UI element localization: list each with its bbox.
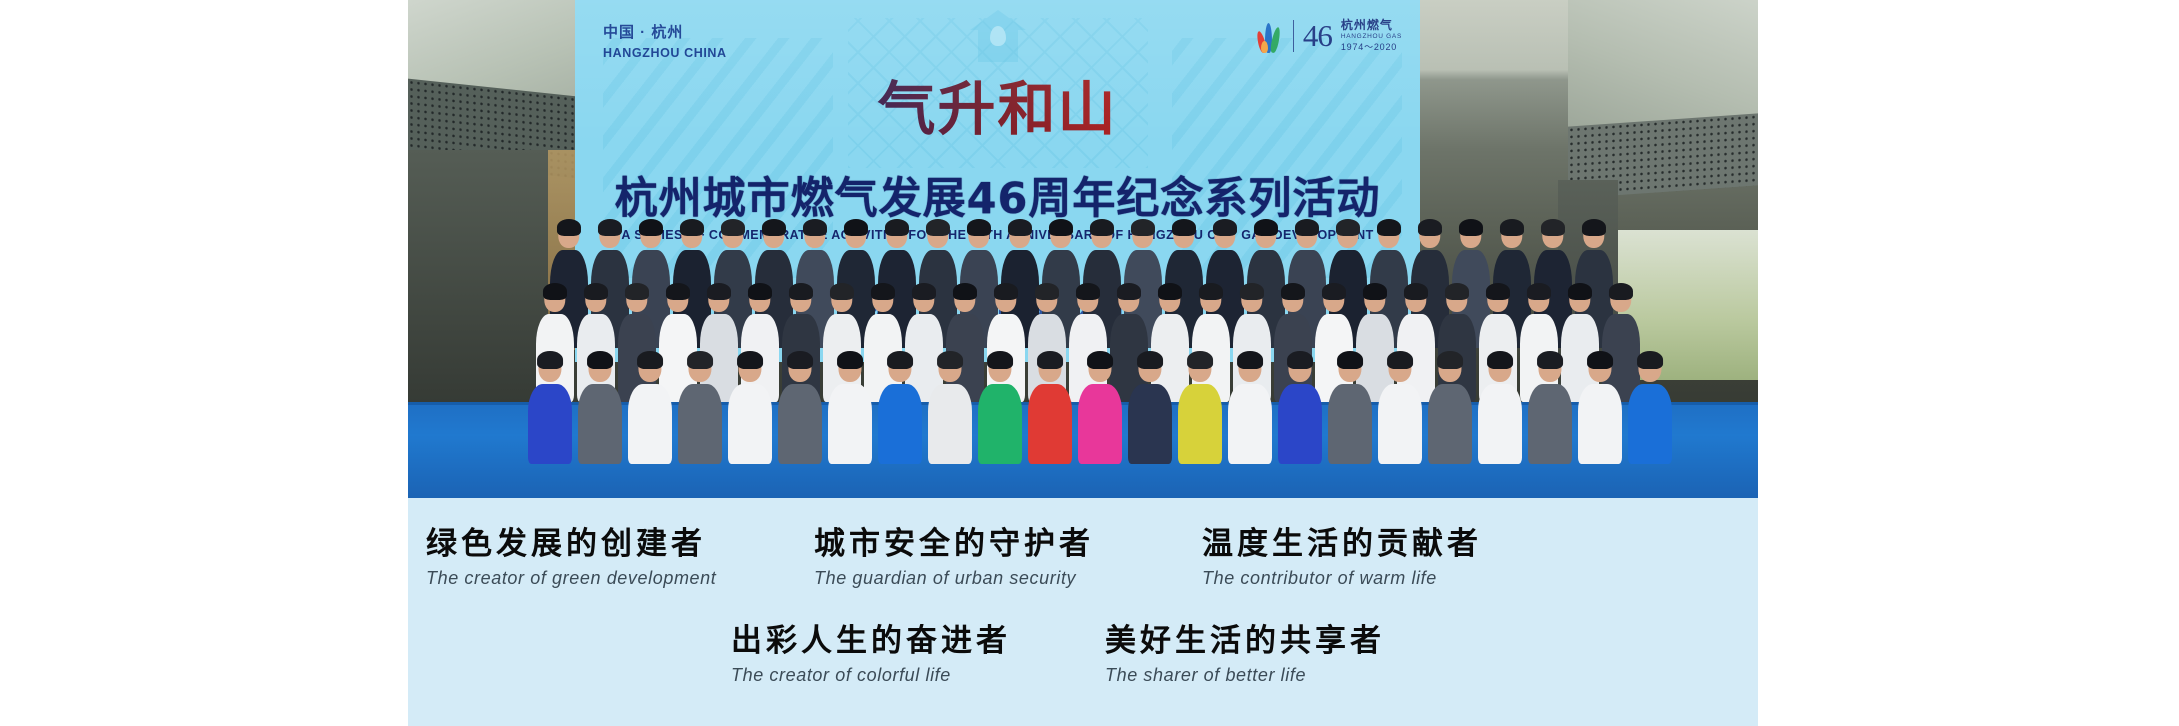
slogan-cn: 城市安全的守护者 (814, 518, 1154, 563)
person (1378, 354, 1422, 464)
slogan-cn: 出彩人生的奋进者 (731, 615, 1061, 660)
slogan-en: The contributor of warm life (1202, 568, 1542, 589)
slogan-en: The creator of green development (426, 568, 766, 589)
person (1178, 354, 1222, 464)
company-logo: 46 杭州燃气 HANGZHOU GAS 1974～2020 (1258, 18, 1402, 54)
person (578, 354, 622, 464)
slogan-en: The guardian of urban security (814, 568, 1154, 589)
house-icon (970, 10, 1026, 62)
slogan-item: 城市安全的守护者 The guardian of urban security (814, 518, 1154, 589)
person (928, 354, 972, 464)
person (1578, 354, 1622, 464)
person (1428, 354, 1472, 464)
slogan-row-2: 出彩人生的奋进者 The creator of colorful life 美好… (408, 615, 1758, 686)
slogan-panel: 绿色发展的创建者 The creator of green developmen… (408, 498, 1758, 726)
poster-page: 中国 · 杭州 HANGZHOU CHINA 46 杭州燃气 HANGZHOU … (0, 0, 2179, 726)
slogan-cn: 绿色发展的创建者 (426, 518, 766, 563)
slogan-cn: 温度生活的贡献者 (1202, 518, 1542, 563)
company-name-cn: 杭州燃气 (1341, 19, 1402, 33)
logo-wordmark: 杭州燃气 HANGZHOU GAS 1974～2020 (1341, 19, 1402, 53)
person (878, 354, 922, 464)
person (1478, 354, 1522, 464)
person (1278, 354, 1322, 464)
anniversary-number: 46 (1303, 18, 1332, 54)
slogan-item: 绿色发展的创建者 The creator of green developmen… (426, 518, 766, 589)
slogan-item: 美好生活的共享者 The sharer of better life (1105, 615, 1435, 686)
person (1328, 354, 1372, 464)
person (728, 354, 772, 464)
person (978, 354, 1022, 464)
slogan-en: The sharer of better life (1105, 665, 1435, 686)
flame-icon-ghost (990, 26, 1006, 46)
person (1078, 354, 1122, 464)
flame-icon (1258, 19, 1284, 53)
location-cn: 中国 · 杭州 (603, 24, 727, 43)
slogan-item: 出彩人生的奋进者 The creator of colorful life (731, 615, 1061, 686)
decor-diamond-grid (848, 18, 1148, 168)
person (628, 354, 672, 464)
location-en: HANGZHOU CHINA (603, 46, 727, 62)
slogan-cn: 美好生活的共享者 (1105, 615, 1435, 660)
person (1228, 354, 1272, 464)
person (1528, 354, 1572, 464)
slogan-en: The creator of colorful life (731, 665, 1061, 686)
slogan-item: 温度生活的贡献者 The contributor of warm life (1202, 518, 1542, 589)
person (528, 354, 572, 464)
person (828, 354, 872, 464)
anniversary-years: 1974～2020 (1341, 42, 1402, 52)
poster-content: 中国 · 杭州 HANGZHOU CHINA 46 杭州燃气 HANGZHOU … (408, 0, 1758, 726)
person (1128, 354, 1172, 464)
person (678, 354, 722, 464)
group-photo: 中国 · 杭州 HANGZHOU CHINA 46 杭州燃气 HANGZHOU … (408, 0, 1758, 498)
company-name-en: HANGZHOU GAS (1341, 33, 1402, 40)
brand-mark: 气升和山 (575, 62, 1420, 146)
slogan-row-1: 绿色发展的创建者 The creator of green developmen… (408, 518, 1758, 589)
person (1028, 354, 1072, 464)
person (778, 354, 822, 464)
person (1628, 354, 1672, 464)
location-block: 中国 · 杭州 HANGZHOU CHINA (603, 24, 727, 61)
people-group (408, 150, 1758, 498)
logo-divider (1293, 20, 1294, 52)
